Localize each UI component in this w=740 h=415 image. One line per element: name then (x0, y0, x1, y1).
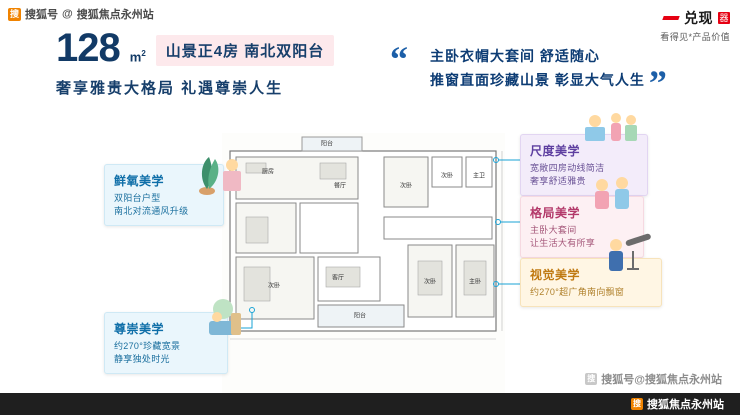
headline-band: 山景正4房 南北双阳台 (156, 35, 335, 66)
quote-line-2: 推窗直面珍藏山景 彰显大气人生” (430, 68, 668, 96)
area-unit-text: m (130, 49, 142, 64)
card-line: 南北对流通风升级 (114, 205, 214, 218)
watermark-label: 搜狐号 (25, 6, 58, 22)
area-unit: m2 (130, 49, 146, 64)
plant-illustration-icon (193, 145, 249, 197)
brand-title: 兑现 (684, 8, 713, 28)
quote-block: “ 主卧衣帽大套间 舒适随心 推窗直面珍藏山景 彰显大气人生” (392, 44, 668, 96)
quote-line-1: 主卧衣帽大套间 舒适随心 (430, 44, 668, 68)
footer-watermark: 搜 搜狐焦点永州站 (631, 393, 724, 415)
family-illustration-icon (579, 105, 643, 145)
callout-card-fresh-oxygen: 鲜氧美学 双阳台户型 南北对流通风升级 (104, 164, 224, 226)
area-unit-sup: 2 (141, 49, 145, 58)
watermark-at: @ (62, 8, 73, 20)
watermark-account: 搜狐焦点永州站 (77, 6, 154, 22)
footer-watermark-label: 搜狐焦点永州站 (647, 396, 724, 412)
brand-subtitle: 看得见*产品价值 (660, 30, 730, 43)
telescope-illustration-icon (599, 233, 659, 273)
bottom-watermark: 搜 搜狐号@搜狐焦点永州站 (585, 371, 722, 387)
area-number: 128 (56, 28, 120, 68)
brand-dash-icon (662, 16, 679, 20)
footer-bar: 搜 搜狐焦点永州站 (0, 393, 740, 415)
couple-illustration-icon (585, 173, 641, 211)
bottom-watermark-label: 搜狐号@搜狐焦点永州站 (601, 371, 722, 387)
quote-close-icon: ” (649, 70, 668, 96)
callout-card-vision: 视觉美学 约270°超广角南向飘窗 (520, 258, 662, 307)
brand-badge-icon: 器 (718, 12, 730, 24)
quote-line-2-text: 推窗直面珍藏山景 彰显大气人生 (430, 72, 645, 88)
poster-root: 搜 搜狐号 @ 搜狐焦点永州站 兑现 器 看得见*产品价值 128 m2 山景正… (0, 0, 740, 415)
headline-sub: 奢享雅贵大格局 礼遇尊崇人生 (56, 77, 334, 98)
card-line: 静享独处时光 (114, 353, 218, 366)
sohu-logo-icon: 搜 (631, 398, 643, 410)
sohu-logo-icon: 搜 (585, 373, 597, 385)
headline-block: 128 m2 山景正4房 南北双阳台 奢享雅贵大格局 礼遇尊崇人生 (56, 28, 334, 98)
card-line: 约270°超广角南向飘窗 (530, 286, 652, 299)
sohu-logo-icon: 搜 (8, 8, 21, 21)
brand-badge: 兑现 器 看得见*产品价值 (660, 8, 730, 43)
quote-open-icon: “ (390, 46, 408, 72)
callout-card-supreme: 尊崇美学 约270°珍藏宽景 静享独处时光 (104, 312, 228, 374)
sofa-illustration-icon (195, 291, 251, 343)
top-watermark: 搜 搜狐号 @ 搜狐焦点永州站 (8, 6, 154, 22)
